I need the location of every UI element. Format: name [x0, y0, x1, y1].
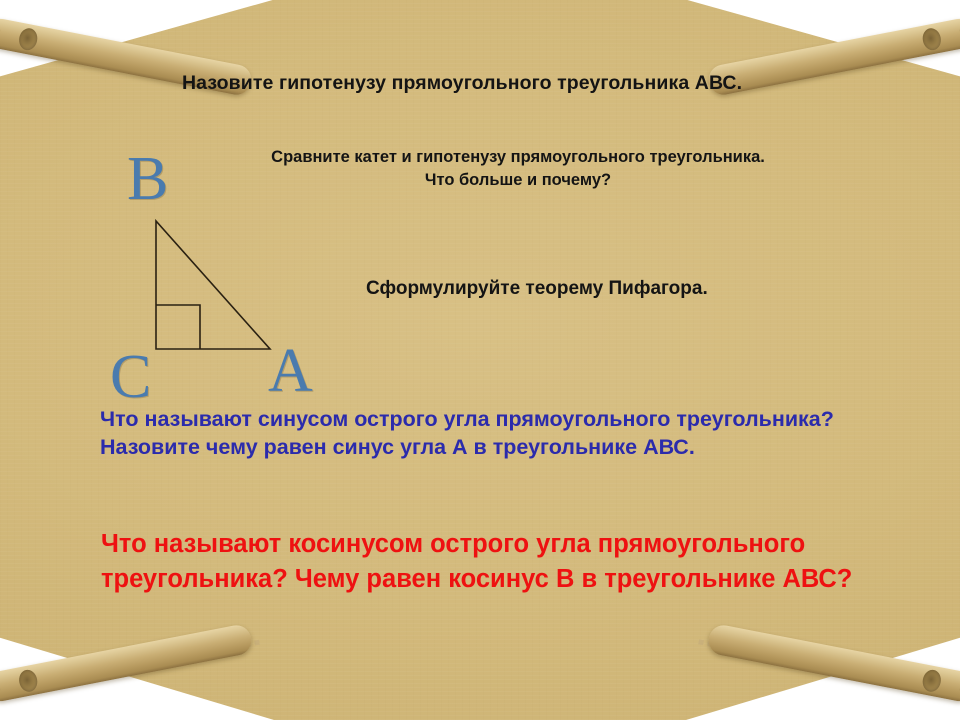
question-hypotenuse: Назовите гипотенузу прямоугольного треуг… — [182, 72, 882, 95]
vertex-label-C: C — [110, 346, 151, 408]
vertex-label-A: A — [268, 340, 313, 402]
right-triangle-figure: B C A — [100, 140, 350, 420]
triangle-outline — [156, 221, 270, 349]
question-pythagoras-theorem: Сформулируйте теорему Пифагора. — [366, 278, 836, 300]
vertex-label-B: B — [127, 148, 168, 210]
question-cosine: Что называют косинусом острого угла прям… — [101, 527, 941, 597]
slide-canvas: Назовите гипотенузу прямоугольного треуг… — [0, 0, 960, 720]
right-angle-marker — [156, 305, 200, 349]
